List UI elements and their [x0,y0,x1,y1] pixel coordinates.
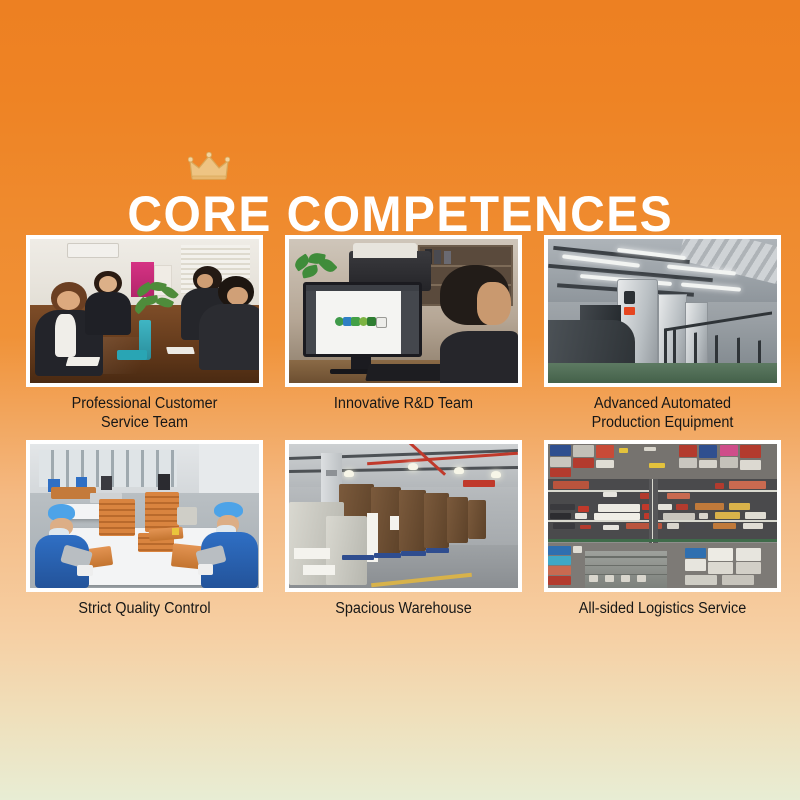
card-all-sided-logistics-service[interactable]: All-sided Logistics Service [544,440,781,618]
printing-press-hall-photo [548,239,777,383]
photo-frame [285,235,522,387]
card-caption: Innovative R&D Team [293,394,513,413]
card-caption: Professional Customer Service Team [34,394,254,432]
quality-inspection-photo [30,444,259,588]
card-advanced-automated-production-equipment[interactable]: Advanced Automated Production Equipment [544,235,781,432]
photo-frame [26,440,263,592]
photo-frame [544,235,781,387]
card-professional-customer-service-team[interactable]: Professional Customer Service Team [26,235,263,432]
aerial-container-port-photo [548,444,777,588]
core-competences-banner: CORE COMPETENCES [0,0,800,800]
card-caption: Advanced Automated Production Equipment [552,394,772,432]
photo-frame [285,440,522,592]
card-spacious-warehouse[interactable]: Spacious Warehouse [285,440,522,618]
card-strict-quality-control[interactable]: Strict Quality Control [26,440,263,618]
warehouse-pallets-photo [289,444,518,588]
card-caption: Spacious Warehouse [293,599,513,618]
photo-frame [544,440,781,592]
crown-icon [188,152,230,182]
photo-frame [26,235,263,387]
card-innovative-rd-team[interactable]: Innovative R&D Team [285,235,522,432]
designer-at-monitor-photo [289,239,518,383]
cards-grid: Professional Customer Service Team [26,235,774,618]
card-caption: Strict Quality Control [34,599,254,618]
meeting-room-photo [30,239,259,383]
card-caption: All-sided Logistics Service [552,599,772,618]
